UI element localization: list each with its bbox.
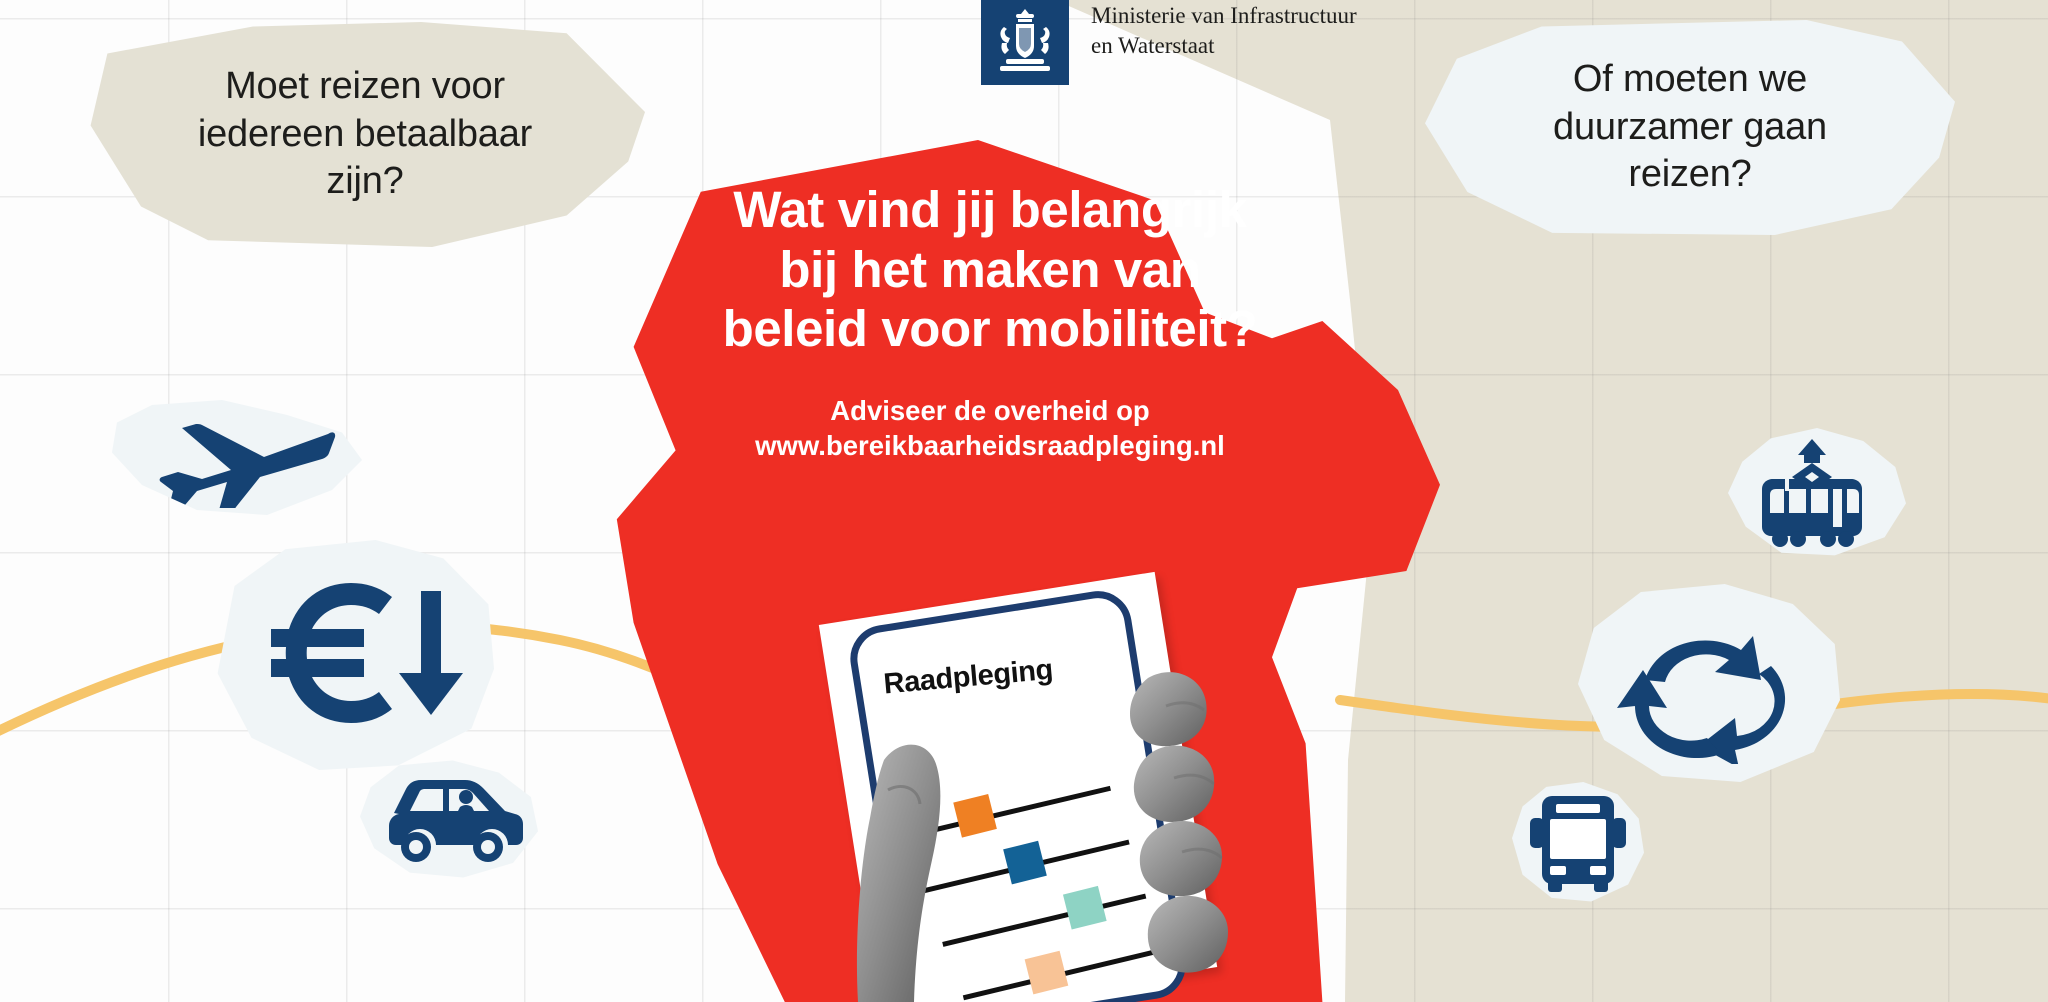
ministry-logo: Ministerie van Infrastructuur en Waterst… xyxy=(981,0,1357,85)
bubble-right-line-1: Of moeten we xyxy=(1553,56,1827,104)
speech-bubble-right-text: Of moeten we duurzamer gaan reizen? xyxy=(1553,56,1827,200)
ministry-logo-line-2: en Waterstaat xyxy=(1091,31,1357,61)
coat-of-arms-icon xyxy=(981,0,1069,85)
bubble-right-line-3: reizen? xyxy=(1553,151,1827,199)
bubble-left-line-3: zijn? xyxy=(198,158,532,206)
ministry-logo-line-1: Ministerie van Infrastructuur xyxy=(1091,1,1357,31)
bubble-left-line-1: Moet reizen voor xyxy=(198,63,532,111)
phone-in-hand: Raadpleging xyxy=(830,578,1260,1002)
euro-down-arrow-icon xyxy=(212,540,494,770)
bubble-right-line-2: duurzamer gaan xyxy=(1553,104,1827,152)
speech-bubble-left-text: Moet reizen voor iedereen betaalbaar zij… xyxy=(198,63,532,207)
bubble-left-line-2: iedereen betaalbaar xyxy=(198,111,532,159)
poster-canvas: Moet reizen voor iedereen betaalbaar zij… xyxy=(0,0,2048,1002)
speech-bubble-right: Of moeten we duurzamer gaan reizen? xyxy=(1425,20,1955,235)
hand-holding-phone xyxy=(830,578,1260,1002)
speech-bubble-left: Moet reizen voor iedereen betaalbaar zij… xyxy=(85,22,645,247)
ministry-logo-text: Ministerie van Infrastructuur en Waterst… xyxy=(1091,1,1357,62)
